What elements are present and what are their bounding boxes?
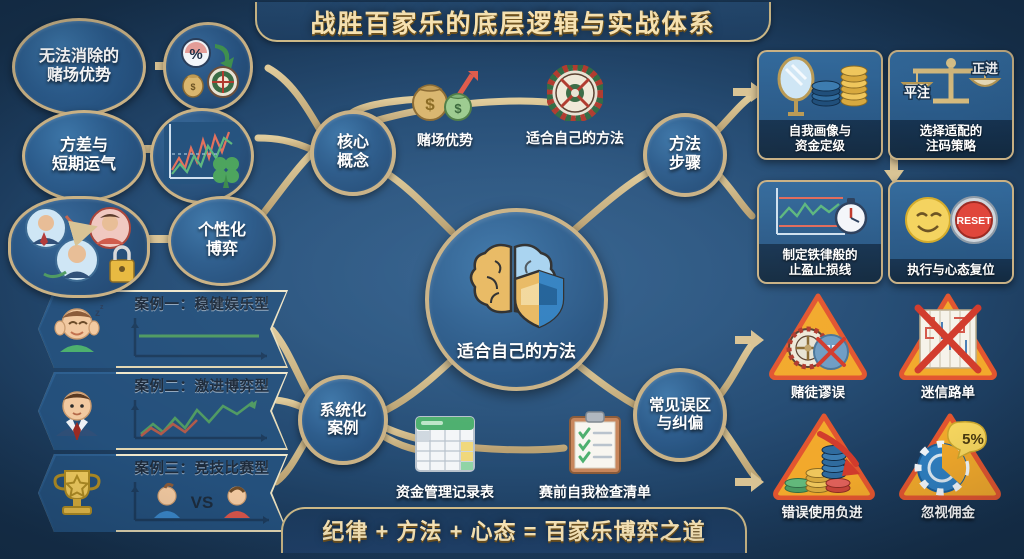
step-card-4[interactable]: 制定铁律般的 止盈止损线 [757, 180, 883, 284]
branch-pitfalls[interactable]: 常见误区与纠偏 [633, 368, 727, 462]
branch-system-cases[interactable]: 系统化案例 [298, 375, 388, 465]
core-item-house-edge[interactable]: $ $ 赌场优势 [403, 65, 487, 150]
versus-label: VS [191, 493, 214, 512]
svg-text:%: % [189, 46, 202, 63]
balance-scale-icon: 平注 正进 [897, 55, 1005, 117]
svg-text:$: $ [454, 101, 462, 116]
player-blue [154, 484, 180, 518]
case-row-2[interactable]: 案例二：激进博弈型 [38, 372, 288, 450]
case-3-title: 案例三：竞技比赛型 [135, 457, 270, 478]
case-row-3[interactable]: 案例三：竞技比赛型 VS [38, 454, 288, 532]
step-card-4-label: 制定铁律般的 止盈止损线 [759, 244, 881, 282]
case-tool-ledger[interactable]: 资金管理记录表 [390, 413, 500, 502]
roulette-wheel-icon [547, 65, 603, 121]
case-2-body: 案例二：激进博弈型 [116, 372, 288, 450]
branch-core-concepts-label: 核心概念 [331, 134, 375, 172]
volatility-chart-clover-icon [156, 114, 248, 198]
percent-roulette-moneybag-icon: % $ [171, 30, 245, 104]
branch-method-steps-label: 方法步骤 [663, 136, 707, 174]
reset-button-label: RESET [956, 215, 992, 227]
step-card-4-art [759, 182, 881, 244]
svg-text:z: z [100, 304, 104, 311]
stopwatch-icon [836, 198, 866, 233]
node-variance-luck-label: 方差与短期运气 [46, 137, 122, 175]
step-card-1-label: 自我画像与 资金定级 [759, 120, 881, 158]
pitfall-2-label: 迷信路单 [892, 381, 1004, 401]
pitfall-3-triangle [772, 412, 872, 500]
roadmap-crossed-icon [918, 308, 978, 370]
icon-node-house-edge-art: % $ [163, 22, 253, 112]
pitfall-4-label: 忽视佣金 [892, 501, 1004, 521]
coins-stack [841, 66, 867, 106]
trophy-icon [49, 465, 105, 521]
pitfall-1-triangle [768, 292, 868, 380]
icon-node-variance-art [150, 108, 254, 204]
pitfall-1-label: 赌徒谬误 [762, 381, 874, 401]
clipboard-checklist-icon [566, 409, 624, 475]
moneybags-arrow-up-icon: $ $ [406, 65, 484, 123]
step-card-1[interactable]: 自我画像与 资金定级 [757, 50, 883, 160]
case-1-body: 案例一：稳健娱乐型 [116, 290, 288, 368]
branch-core-concepts[interactable]: 核心概念 [310, 110, 396, 196]
infographic-canvas: 战胜百家乐的底层逻辑与实战体系 无法消除的赌场优势 % $ 方差与短期运气 [0, 0, 1024, 559]
case-1-avatar: z z [38, 290, 116, 368]
commission-chip-icon [918, 444, 966, 492]
mirror-chips-coins-icon [768, 55, 872, 117]
pitfall-negative-progression[interactable]: 错误使用负进 [762, 412, 882, 521]
step-card-1-art [759, 52, 881, 120]
step-card-3[interactable]: RESET 执行与心态复位 [888, 180, 1014, 284]
scale-right-label: 正进 [972, 61, 998, 76]
flat-line-chart [127, 314, 277, 364]
title-banner: 战胜百家乐的底层逻辑与实战体系 [255, 2, 771, 42]
svg-text:$: $ [190, 82, 195, 92]
step-card-2-label: 选择适配的 注码策略 [890, 120, 1012, 158]
versus-chart: VS [127, 478, 277, 528]
node-house-edge[interactable]: 无法消除的赌场优势 [12, 18, 146, 116]
node-personalized-play[interactable]: 个性化博弈 [168, 196, 276, 286]
footer-banner: 纪律 + 方法 + 心态 = 百家乐博弈之道 [281, 507, 747, 553]
branch-pitfalls-label: 常见误区与纠偏 [643, 397, 717, 434]
chips-stack [812, 81, 840, 106]
commission-badge-label: 5% [962, 431, 984, 448]
case-1-title: 案例一：稳健娱乐型 [135, 293, 270, 314]
volatile-rising-chart [127, 396, 277, 446]
core-item-house-edge-label: 赌场优势 [403, 130, 487, 150]
pitfall-4-triangle: 5% [898, 412, 998, 500]
players-lock-icon [14, 202, 144, 292]
case-tool-ledger-label: 资金管理记录表 [390, 482, 500, 502]
crossed-arrows-badge [814, 335, 848, 369]
spreadsheet-icon [412, 413, 478, 475]
case-2-title: 案例二：激进博弈型 [135, 375, 270, 396]
pitfall-3-label: 错误使用负进 [762, 501, 882, 521]
case-2-avatar [38, 372, 116, 450]
branch-method-steps[interactable]: 方法步骤 [643, 113, 727, 197]
step-card-3-label: 执行与心态复位 [890, 259, 1012, 282]
core-item-own-method[interactable]: 适合自己的方法 [515, 65, 635, 148]
chart-stopwatch-icon [767, 184, 873, 242]
core-item-own-method-label: 适合自己的方法 [515, 128, 635, 148]
footer-slogan: 纪律 + 方法 + 心态 = 百家乐博弈之道 [322, 514, 705, 546]
step-card-2[interactable]: 平注 正进 选择适配的 注码策略 [888, 50, 1014, 160]
pitfall-superstition-roadmap[interactable]: 迷信路单 [892, 292, 1004, 401]
pitfall-gamblers-fallacy[interactable]: 赌徒谬误 [762, 292, 874, 401]
case-3-avatar [38, 454, 116, 532]
case-3-body: 案例三：竞技比赛型 VS [116, 454, 288, 532]
sleeping-person-icon: z z [48, 300, 106, 358]
icon-node-personalized-art [8, 196, 150, 298]
businessman-icon [48, 382, 106, 440]
pitfall-2-triangle [898, 292, 998, 380]
scale-left-label: 平注 [904, 85, 930, 100]
node-variance-luck[interactable]: 方差与短期运气 [22, 110, 146, 202]
step-card-2-art: 平注 正进 [890, 52, 1012, 120]
center-node[interactable]: 适合自己的方法 [425, 208, 608, 391]
node-house-edge-label: 无法消除的赌场优势 [33, 48, 125, 86]
case-row-1[interactable]: z z 案例一：稳健娱乐型 [38, 290, 288, 368]
page-title: 战胜百家乐的底层逻辑与实战体系 [310, 4, 715, 40]
case-tool-checklist-label: 赛前自我检查清单 [530, 482, 660, 502]
svg-text:$: $ [425, 95, 435, 114]
player-red [224, 487, 250, 518]
center-node-label: 适合自己的方法 [457, 337, 576, 362]
branch-system-cases-label: 系统化案例 [314, 402, 373, 439]
calm-face-reset-icon: RESET [898, 192, 1004, 248]
step-card-3-art: RESET [890, 182, 1012, 259]
pitfall-ignore-commission[interactable]: 5% 忽视佣金 [892, 412, 1004, 521]
brain-shield-icon [461, 237, 573, 333]
node-personalized-play-label: 个性化博弈 [192, 222, 252, 260]
